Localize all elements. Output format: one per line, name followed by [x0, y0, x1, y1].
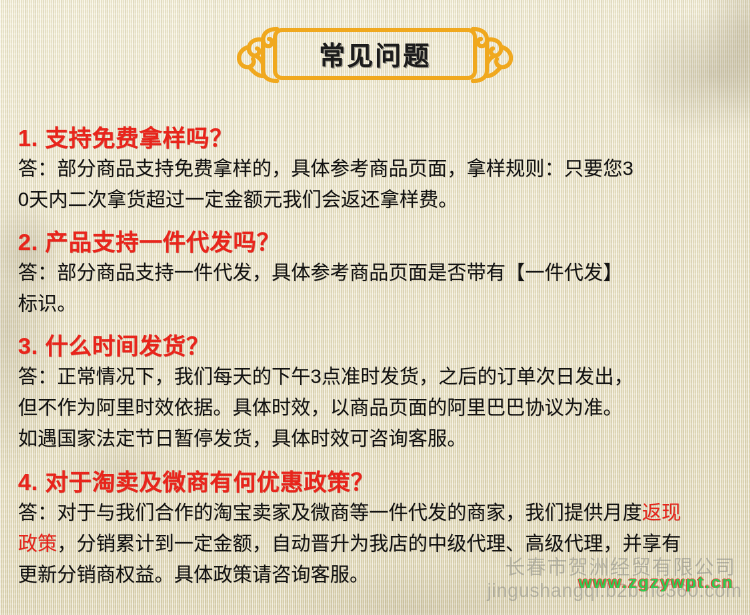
- faq-answer-4: 答：对于与我们合作的淘宝卖家及微商等一件代发的商家，我们提供月度返现 政策，分销…: [18, 498, 734, 591]
- faq-question-1: 1. 支持免费拿样吗？: [18, 122, 734, 154]
- faq-answer-line: 答：正常情况下，我们每天的下午3点准时发货，之后的订单次日发出，: [18, 362, 734, 393]
- answer-text: 但不作为阿里时效依据。具体时效，以商品页面的阿里巴巴协议为准。: [18, 397, 623, 419]
- faq-answer-line: 但不作为阿里时效依据。具体时效，以商品页面的阿里巴巴协议为准。: [18, 393, 734, 424]
- answer-text: 0天内二次拿货超过一定金额元我们会返还拿样费。: [18, 189, 458, 211]
- answer-text: 更新分销商权益。具体政策请咨询客服。: [18, 564, 369, 586]
- highlighted-text: 返现: [642, 502, 681, 524]
- highlighted-text: 政策: [18, 533, 57, 555]
- faq-question-2: 2. 产品支持一件代发吗？: [18, 226, 734, 258]
- answer-text: 答：正常情况下，我们每天的下午3点准时发货，之后的订单次日发出，: [18, 366, 633, 388]
- answer-text: 如遇国家法定节日暂停发货，具体时效可咨询客服。: [18, 428, 467, 450]
- answer-text: 标识。: [18, 293, 77, 315]
- faq-list: 1. 支持免费拿样吗？ 答：部分商品支持免费拿样的，具体参考商品页面，拿样规则：…: [0, 110, 750, 591]
- faq-item-2: 2. 产品支持一件代发吗？ 答：部分商品支持一件代发，具体参考商品页面是否带有【…: [0, 226, 750, 320]
- faq-item-1: 1. 支持免费拿样吗？ 答：部分商品支持免费拿样的，具体参考商品页面，拿样规则：…: [0, 122, 750, 216]
- faq-answer-2: 答：部分商品支持一件代发，具体参考商品页面是否带有【一件代发】 标识。: [18, 258, 734, 320]
- faq-answer-line: 如遇国家法定节日暂停发货，具体时效可咨询客服。: [18, 424, 734, 455]
- title-banner: 常见问题: [241, 28, 509, 84]
- answer-text: 答：部分商品支持免费拿样的，具体参考商品页面，拿样规则：只要您3: [18, 158, 633, 180]
- faq-answer-1: 答：部分商品支持免费拿样的，具体参考商品页面，拿样规则：只要您3 0天内二次拿货…: [18, 154, 734, 216]
- page-title: 常见问题: [273, 28, 477, 80]
- faq-answer-line: 0天内二次拿货超过一定金额元我们会返还拿样费。: [18, 185, 734, 216]
- faq-question-4: 4. 对于淘卖及微商有何优惠政策？: [18, 466, 734, 498]
- faq-answer-line: 答：部分商品支持一件代发，具体参考商品页面是否带有【一件代发】: [18, 258, 734, 289]
- faq-answer-3: 答：正常情况下，我们每天的下午3点准时发货，之后的订单次日发出， 但不作为阿里时…: [18, 362, 734, 455]
- faq-answer-line: 答：对于与我们合作的淘宝卖家及微商等一件代发的商家，我们提供月度返现: [18, 498, 734, 529]
- answer-text: 答：对于与我们合作的淘宝卖家及微商等一件代发的商家，我们提供月度: [18, 502, 642, 524]
- faq-answer-line: 政策，分销累计到一定金额，自动晋升为我店的中级代理、高级代理，并享有: [18, 529, 734, 560]
- faq-page: 常见问题 1. 支持免费拿样吗？ 答：部分商品支持免费拿样的，具体参考商品页面，…: [0, 0, 750, 615]
- faq-item-4: 4. 对于淘卖及微商有何优惠政策？ 答：对于与我们合作的淘宝卖家及微商等一件代发…: [0, 466, 750, 591]
- answer-text: 答：部分商品支持一件代发，具体参考商品页面是否带有【一件代发】: [18, 262, 623, 284]
- page-header: 常见问题: [0, 0, 750, 110]
- faq-answer-line: 标识。: [18, 289, 734, 320]
- faq-item-3: 3. 什么时间发货？ 答：正常情况下，我们每天的下午3点准时发货，之后的订单次日…: [0, 330, 750, 455]
- faq-answer-line: 更新分销商权益。具体政策请咨询客服。: [18, 560, 734, 591]
- answer-text: ，分销累计到一定金额，自动晋升为我店的中级代理、高级代理，并享有: [57, 533, 681, 555]
- faq-answer-line: 答：部分商品支持免费拿样的，具体参考商品页面，拿样规则：只要您3: [18, 154, 734, 185]
- faq-question-3: 3. 什么时间发货？: [18, 330, 734, 362]
